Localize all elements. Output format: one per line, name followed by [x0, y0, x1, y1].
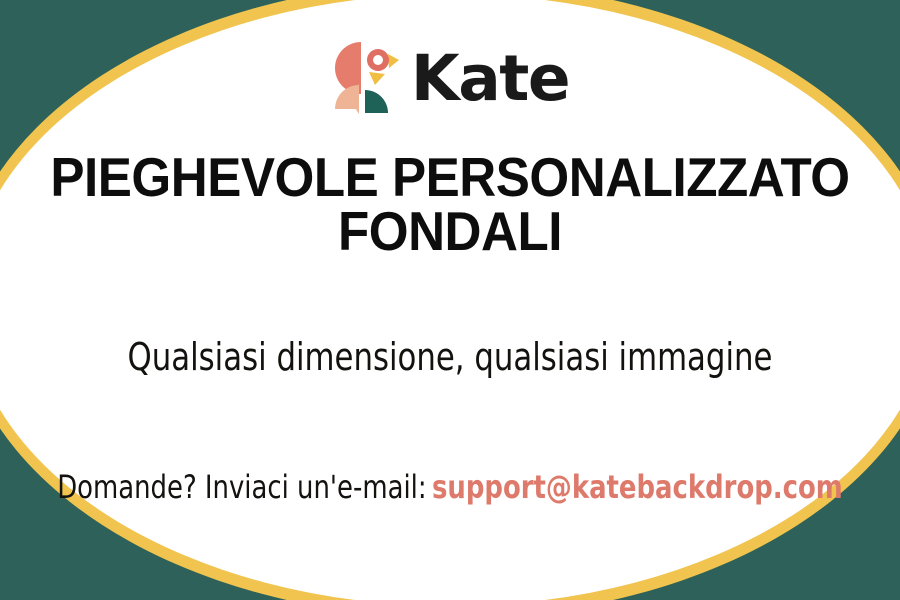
brand-lockup: Kate	[331, 34, 569, 120]
kate-flower-logo-icon	[331, 38, 405, 116]
promo-banner: Kate PIEGHEVOLE PERSONALIZZATO FONDALI Q…	[0, 0, 900, 600]
banner-content: Kate PIEGHEVOLE PERSONALIZZATO FONDALI Q…	[0, 0, 900, 600]
page-title: PIEGHEVOLE PERSONALIZZATO FONDALI	[50, 150, 850, 259]
support-email-link[interactable]: support@katebackdrop.com	[432, 468, 843, 506]
brand-wordmark: Kate	[411, 47, 569, 110]
contact-line: Domande? Inviaci un'e-mail:support@kateb…	[54, 470, 846, 505]
subtitle-text: Qualsiasi dimensione, qualsiasi immagine	[63, 338, 837, 378]
contact-label: Domande? Inviaci un'e-mail:	[57, 468, 426, 506]
